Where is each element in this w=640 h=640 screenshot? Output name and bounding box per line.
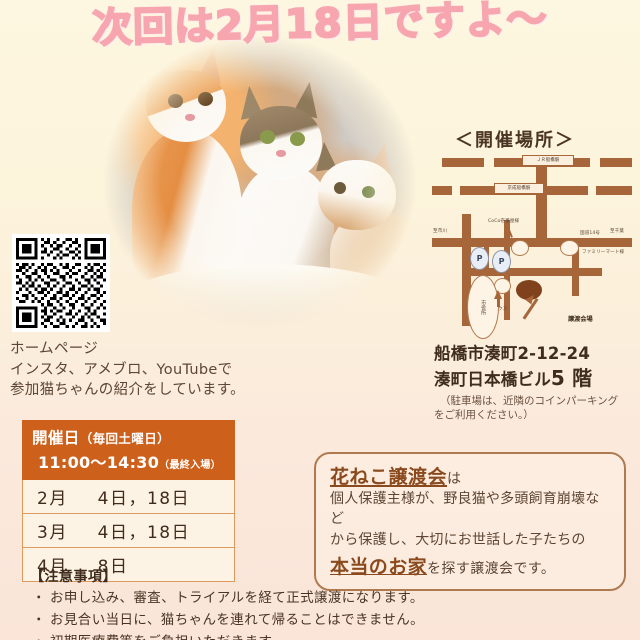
table-row: 2月 4日，18日 [23,480,234,514]
map-road-v-main [536,158,547,240]
map-road-h1a [442,158,484,167]
social-line-1: インスタ、アメブロ、YouTubeで [10,360,245,381]
address-line-2: 湊町日本橋ビル5 階 [434,365,618,392]
kitten-orange-eye-left [168,94,183,108]
map-label-route14: 国道14号 [580,230,600,236]
schedule-days: 4日，18日 [98,523,190,543]
schedule-header-main: 開催日 [32,429,80,447]
schedule-time: 11:00〜14:30 [38,453,159,472]
map-annex-arrow-stem [497,297,500,307]
homepage-caption: ホームページ [10,339,245,360]
address-note-2: をご利用ください。） [434,408,618,423]
address-note-1: （駐車場は、近隣のコインパーキング [434,394,618,409]
notes-list: お申し込み、審査、トライアルを経て正式譲渡になります。 お見合い当日に、猫ちゃん… [30,588,590,640]
schedule-table: 開催日（毎回土曜日） 11:00〜14:30（最終入場） 2月 4日，18日 3… [22,420,235,582]
venue-map: ＪＲ船橋駅 京成船橋駅 CoCo壱番屋様 国道14号 ファミリーマート様 至市川… [432,148,632,333]
qr-code-image[interactable] [12,234,110,332]
map-label-familymart: ファミリーマート様 [582,249,624,255]
kitten-tabby-head [240,106,322,180]
social-links-text: ホームページ インスタ、アメブロ、YouTubeで 参加猫ちゃんの紹介をしていま… [10,339,245,401]
map-road-h1c [600,158,632,167]
schedule-month: 3月 [37,523,68,543]
map-building-2 [560,240,579,256]
map-station-jr: ＪＲ船橋駅 [522,155,574,166]
map-parking-1: P [470,247,489,270]
kittens-photo [100,32,420,332]
social-line-2: 参加猫ちゃんの紹介をしています。 [10,380,245,401]
about-heading-suffix: は [447,471,462,487]
notes-title: 【注意事項】 [30,566,590,586]
map-road-h2a [432,186,452,195]
schedule-header-line2: 11:00〜14:30（最終入場） [32,449,227,473]
address-building: 湊町日本橋ビル [434,370,551,389]
poster-title-area: 次回は2月18日ですよ〜 [0,0,640,46]
kitten-orange-eye-right [198,92,213,106]
kitten-tabby-eye-right [290,132,305,146]
about-body-line-2: から保護し、大切にお世話した子たちの [330,531,612,551]
kitten-calico-eye-right [362,186,375,198]
qr-code-svg [16,238,106,328]
schedule-month: 2月 [37,489,68,509]
map-label-coco: CoCo壱番屋様 [488,218,519,224]
map-city-hall: 市役所 [467,275,499,339]
map-building-1 [511,240,529,256]
about-body-line-1: 個人保護主様が、野良猫や多頭飼育崩壊など [330,490,612,530]
venue-address: 船橋市湊町2-12-24 湊町日本橋ビル5 階 （駐車場は、近隣のコインパーキン… [434,343,618,423]
kitten-orange-nose [185,114,195,121]
schedule-header-line1: 開催日（毎回土曜日） [32,426,227,448]
cat-bed [122,264,412,340]
kitten-calico-eye-left [334,182,346,194]
map-label-to-ichikawa: 至市川 [433,228,447,234]
map-venue-label: 譲渡会場 [568,314,593,323]
schedule-days: 4日，18日 [98,489,190,509]
map-station-keisei: 京成船橋駅 [494,183,544,194]
qr-code-block[interactable] [12,234,110,332]
kitten-calico-head [318,160,396,230]
list-item: お申し込み、審査、トライアルを経て正式譲渡になります。 [30,588,590,610]
schedule-header-sub: （毎回土曜日） [80,431,170,446]
kitten-orange-head [146,70,226,142]
about-org-name: 花ねこ譲渡会 [330,466,447,488]
list-item: 初期医療費等をご負担いただきます。 [30,632,590,640]
kitten-tabby-nose [276,150,286,157]
map-parking-2: P [492,250,511,273]
map-title: ＜開催場所＞ [455,126,575,152]
map-road-h2c [596,186,632,195]
about-heading: 花ねこ譲渡会は [330,462,612,489]
schedule-header: 開催日（毎回土曜日） 11:00〜14:30（最終入場） [22,420,235,480]
kitten-tabby-eye-left [260,130,275,144]
list-item: お見合い当日に、猫ちゃんを連れて帰ることはできません。 [30,610,590,632]
table-row: 3月 4日，18日 [23,514,234,548]
schedule-time-sub: （最終入場） [159,460,221,471]
map-label-to-chiba: 至千葉 [610,228,624,234]
notes-section: 【注意事項】 お申し込み、審査、トライアルを経て正式譲渡になります。 お見合い当… [30,566,590,640]
page-title: 次回は2月18日ですよ〜 [92,0,549,54]
address-floor: 5 階 [551,366,592,390]
address-line-1: 船橋市湊町2-12-24 [434,343,618,365]
flyer-poster: 次回は2月18日ですよ〜 [0,0,640,640]
